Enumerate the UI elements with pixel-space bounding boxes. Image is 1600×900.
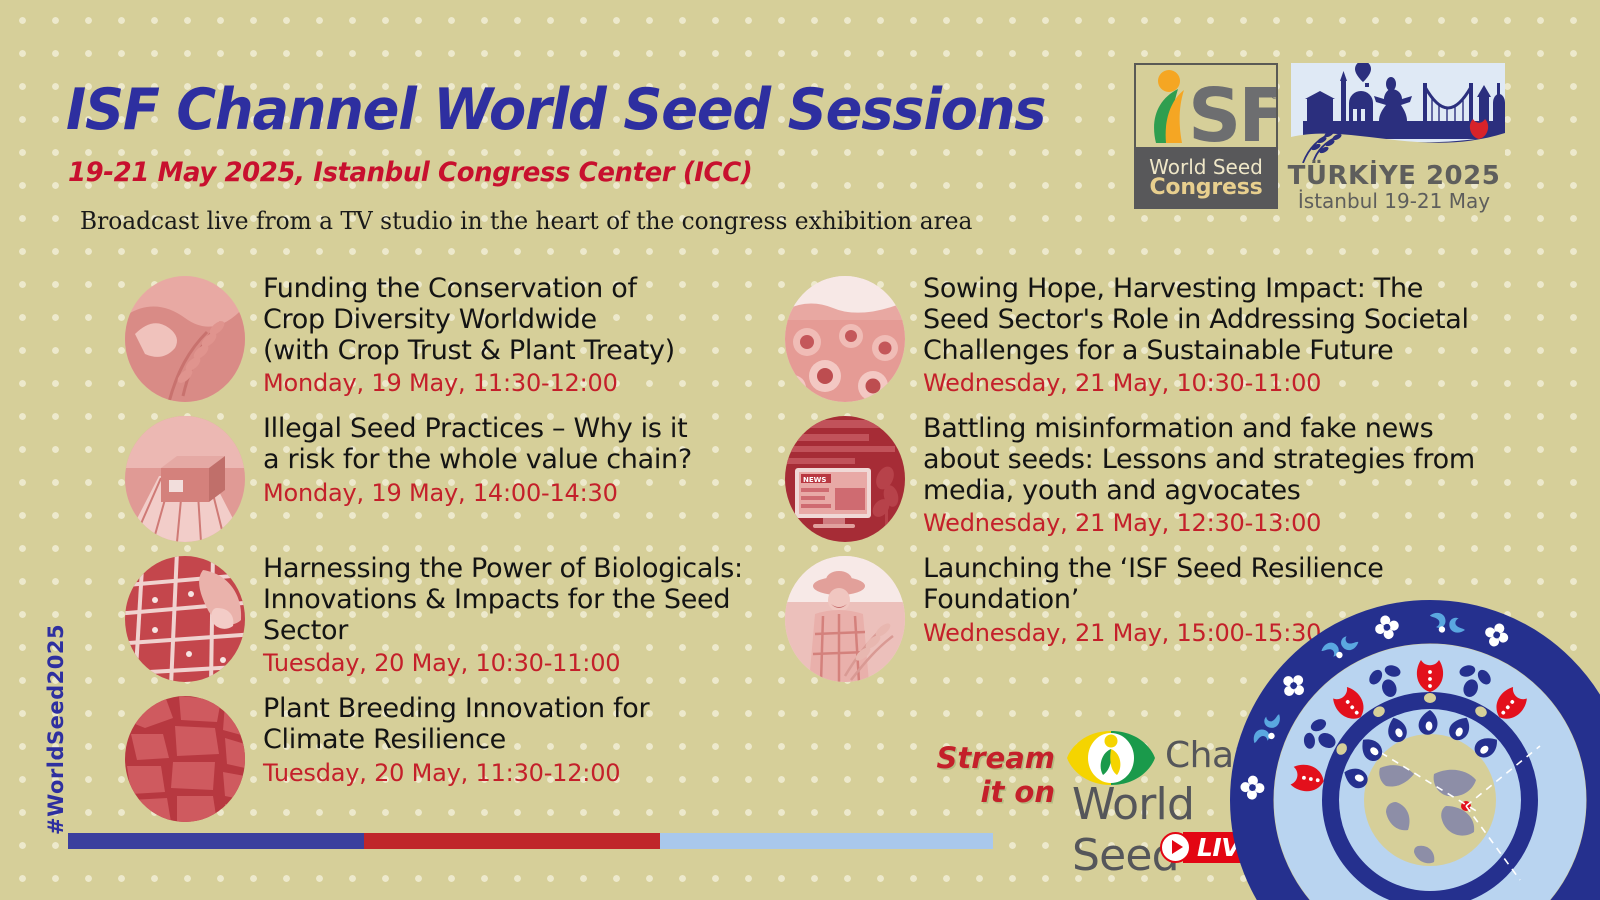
svg-text:®: ® <box>1269 88 1276 103</box>
session-thumbnail-news-desktop-screen: NEWS <box>785 416 905 542</box>
session-datetime: Tuesday, 20 May, 10:30-11:00 <box>263 649 743 678</box>
poster-canvas: ISF Channel World Seed Sessions 19-21 Ma… <box>0 0 1600 900</box>
session-text: Illegal Seed Practices – Why is ita risk… <box>263 412 692 507</box>
bottom-color-bar <box>68 833 993 849</box>
session-datetime: Wednesday, 21 May, 10:30-11:00 <box>923 369 1469 398</box>
session-item[interactable]: Harnessing the Power of Biologicals:Inno… <box>125 552 785 682</box>
session-text: Battling misinformation and fake newsabo… <box>923 412 1475 538</box>
session-datetime: Monday, 19 May, 11:30-12:00 <box>263 369 675 398</box>
session-text: Plant Breeding Innovation forClimate Res… <box>263 692 649 787</box>
session-item[interactable]: NEWS Battling misinformation and fake ne… <box>785 412 1485 542</box>
session-thumbnail-hand-planting-seedling-tray <box>125 556 245 682</box>
session-text: Harnessing the Power of Biologicals:Inno… <box>263 552 743 678</box>
session-title: Plant Breeding Innovation forClimate Res… <box>263 694 649 756</box>
session-title: Sowing Hope, Harvesting Impact: TheSeed … <box>923 274 1469 366</box>
sessions-column-left: Funding the Conservation ofCrop Diversit… <box>125 272 785 832</box>
play-icon <box>1160 832 1191 863</box>
session-thumbnail-cracked-dry-earth <box>125 696 245 822</box>
isf-logo-wordmark: World Seed Congress <box>1134 147 1278 209</box>
session-title: Battling misinformation and fake newsabo… <box>923 414 1475 506</box>
isf-logo-line2: Congress <box>1149 177 1262 199</box>
page-title: ISF Channel World Seed Sessions <box>66 82 1045 139</box>
session-title: Illegal Seed Practices – Why is ita risk… <box>263 414 692 476</box>
isf-logo-line1: World Seed <box>1149 157 1263 177</box>
session-title: Harnessing the Power of Biologicals:Inno… <box>263 554 743 646</box>
session-datetime: Wednesday, 21 May, 12:30-13:00 <box>923 509 1475 538</box>
session-title: Funding the Conservation ofCrop Diversit… <box>263 274 675 366</box>
turkish-iznik-tile-ornament <box>1220 550 1600 900</box>
lightblue-segment <box>660 833 993 849</box>
session-item[interactable]: Illegal Seed Practices – Why is ita risk… <box>125 412 785 542</box>
blue-segment <box>68 833 364 849</box>
stream-it-on-label: Streamit on <box>920 741 1055 809</box>
svg-text:SF: SF <box>1188 73 1276 153</box>
turkiye-2025-logo: TÜRKİYE 2025 İstanbul 19-21 May <box>1283 63 1505 215</box>
event-date-venue: 19-21 May 2025, Istanbul Congress Center… <box>68 157 752 188</box>
turkiye-logo-line2: İstanbul 19-21 May <box>1283 189 1505 213</box>
session-thumbnail-farmer-with-wheat-sheaf <box>785 556 905 682</box>
session-thumbnail-hand-holding-wheat-grain <box>125 276 245 402</box>
turkiye-logo-line1: TÜRKİYE 2025 <box>1283 161 1505 191</box>
hashtag-label: #WorldSeed2025 <box>44 625 68 835</box>
isf-world-seed-congress-logo: SF ® World Seed Congress <box>1134 63 1278 209</box>
red-segment <box>364 833 660 849</box>
session-item[interactable]: Funding the Conservation ofCrop Diversit… <box>125 272 785 402</box>
session-item[interactable]: Sowing Hope, Harvesting Impact: TheSeed … <box>785 272 1485 402</box>
session-text: Sowing Hope, Harvesting Impact: TheSeed … <box>923 272 1469 398</box>
session-text: Funding the Conservation ofCrop Diversit… <box>263 272 675 398</box>
session-thumbnail-box-on-conveyor-belt <box>125 416 245 542</box>
istanbul-skyline-icon <box>1283 63 1505 163</box>
session-datetime: Tuesday, 20 May, 11:30-12:00 <box>263 759 649 788</box>
svg-text:NEWS: NEWS <box>803 476 826 484</box>
session-thumbnail-sunflower-field <box>785 276 905 402</box>
session-item[interactable]: Plant Breeding Innovation forClimate Res… <box>125 692 785 822</box>
broadcast-note: Broadcast live from a TV studio in the h… <box>80 207 972 235</box>
isf-monogram-icon: SF ® <box>1136 65 1276 153</box>
session-datetime: Monday, 19 May, 14:00-14:30 <box>263 479 692 508</box>
